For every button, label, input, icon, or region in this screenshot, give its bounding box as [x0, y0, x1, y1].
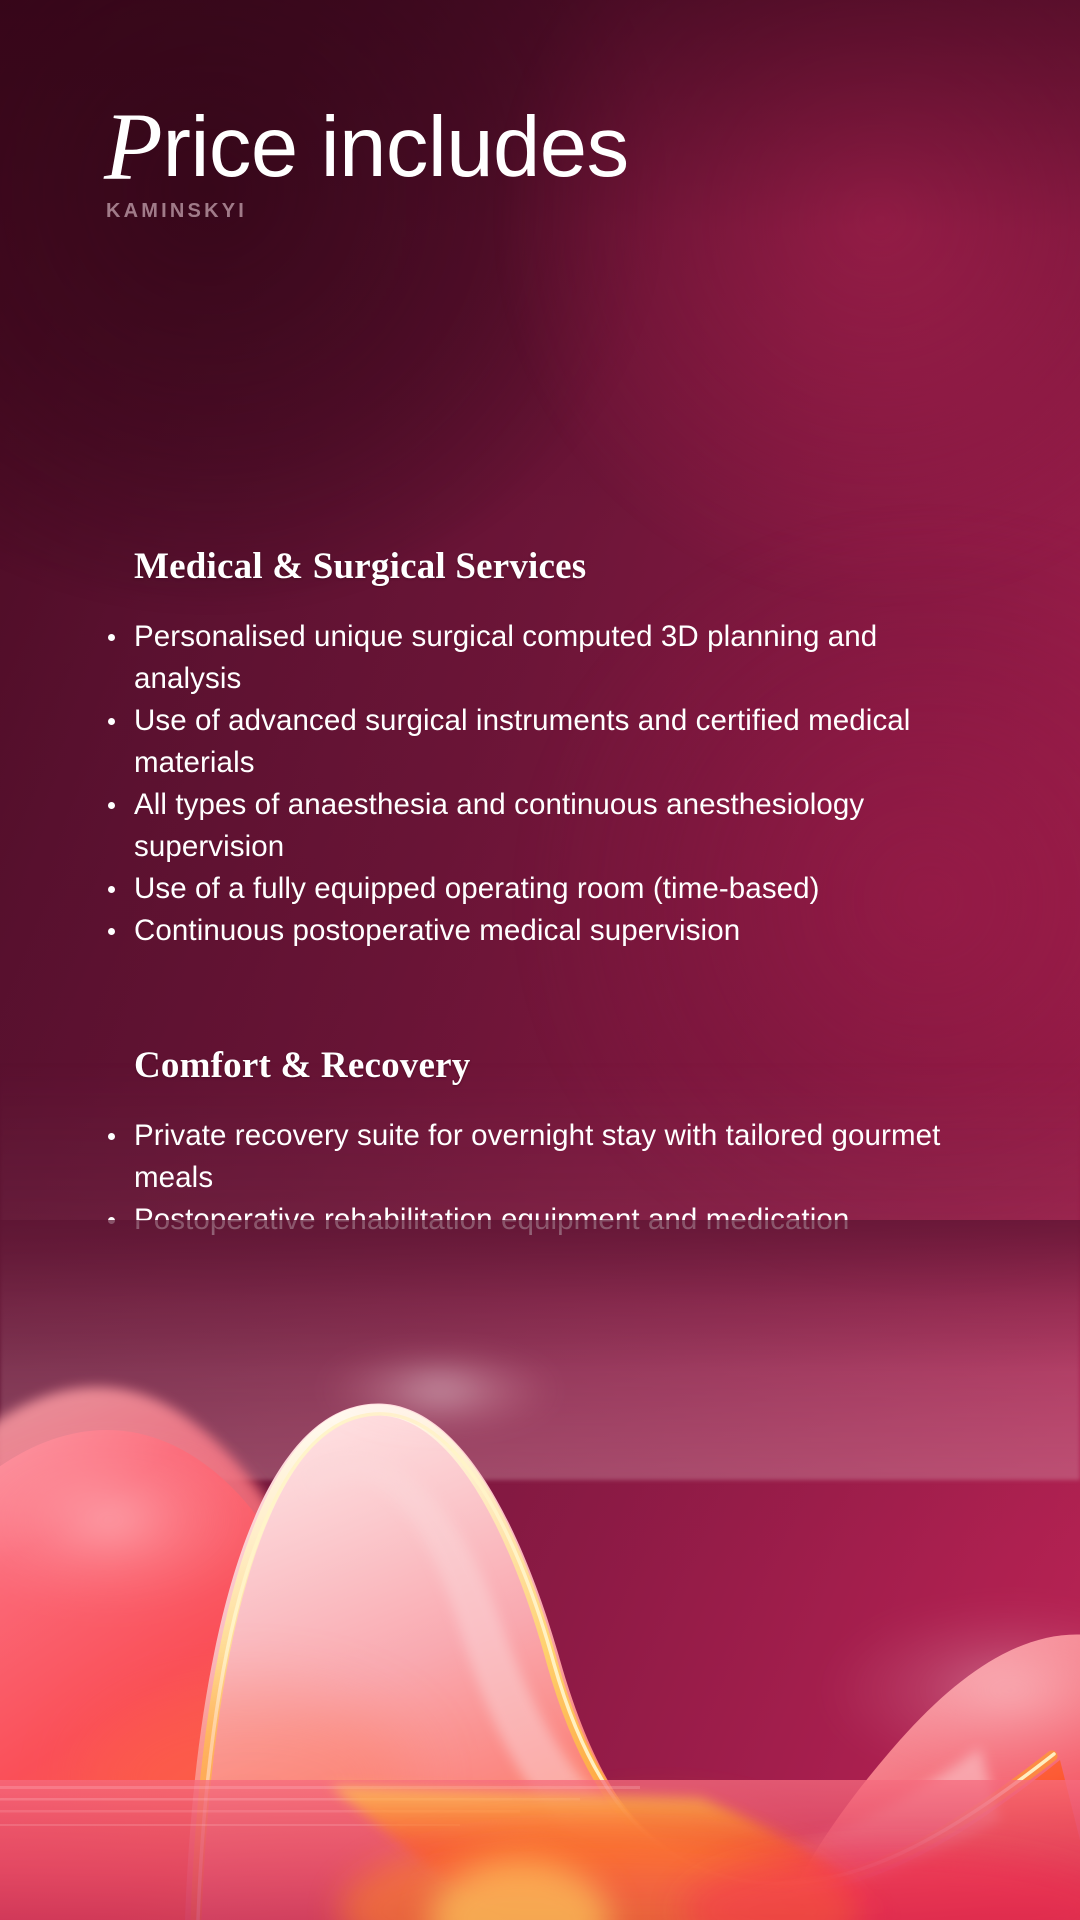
section-comfort-recovery: Comfort & Recovery Private recovery suit… — [0, 1044, 1080, 1241]
list-item: Use of a fully equipped operating room (… — [134, 868, 984, 910]
list-item-text: Use of a fully equipped operating room (… — [134, 868, 984, 910]
list-item-text: Use of advanced surgical instruments and… — [134, 700, 984, 784]
bullet-dot-icon — [108, 928, 115, 935]
title-drop-cap: P — [104, 93, 163, 200]
content-sections: Medical & Surgical Services Personalised… — [0, 545, 1080, 1241]
list-item-text: Personalised unique surgical computed 3D… — [134, 616, 984, 700]
section-title: Comfort & Recovery — [134, 1044, 1080, 1087]
list-item-text: Private recovery suite for overnight sta… — [134, 1115, 984, 1199]
bullet-dot-icon — [108, 802, 115, 809]
wave-right-highlight — [820, 1600, 1080, 1780]
wave-crest-glow — [320, 1352, 560, 1428]
list-item-text: All types of anaesthesia and continuous … — [134, 784, 984, 868]
bullet-list: Personalised unique surgical computed 3D… — [0, 616, 1080, 952]
bullet-dot-icon — [108, 886, 115, 893]
page-title: Price includes — [104, 96, 964, 192]
list-item: All types of anaesthesia and continuous … — [134, 784, 984, 868]
list-item: Personalised unique surgical computed 3D… — [134, 616, 984, 700]
list-item: Private recovery suite for overnight sta… — [134, 1115, 984, 1199]
brand-logotype: KAMINSKYI — [106, 200, 964, 223]
bullet-dot-icon — [108, 634, 115, 641]
price-includes-slide: Price includes KAMINSKYI Medical & Surgi… — [0, 0, 1080, 1920]
title-rest: rice includes — [163, 100, 629, 195]
section-title: Medical & Surgical Services — [134, 545, 1080, 588]
bullet-dot-icon — [108, 718, 115, 725]
list-item-text: Continuous postoperative medical supervi… — [134, 910, 984, 952]
section-medical-surgical-services: Medical & Surgical Services Personalised… — [0, 545, 1080, 952]
list-item: Continuous postoperative medical supervi… — [134, 910, 984, 952]
header: Price includes KAMINSKYI — [104, 96, 964, 223]
wave-illustration — [0, 1220, 1080, 1920]
abstract-wave-artwork — [0, 1220, 1080, 1920]
list-item: Use of advanced surgical instruments and… — [134, 700, 984, 784]
bullet-dot-icon — [108, 1133, 115, 1140]
